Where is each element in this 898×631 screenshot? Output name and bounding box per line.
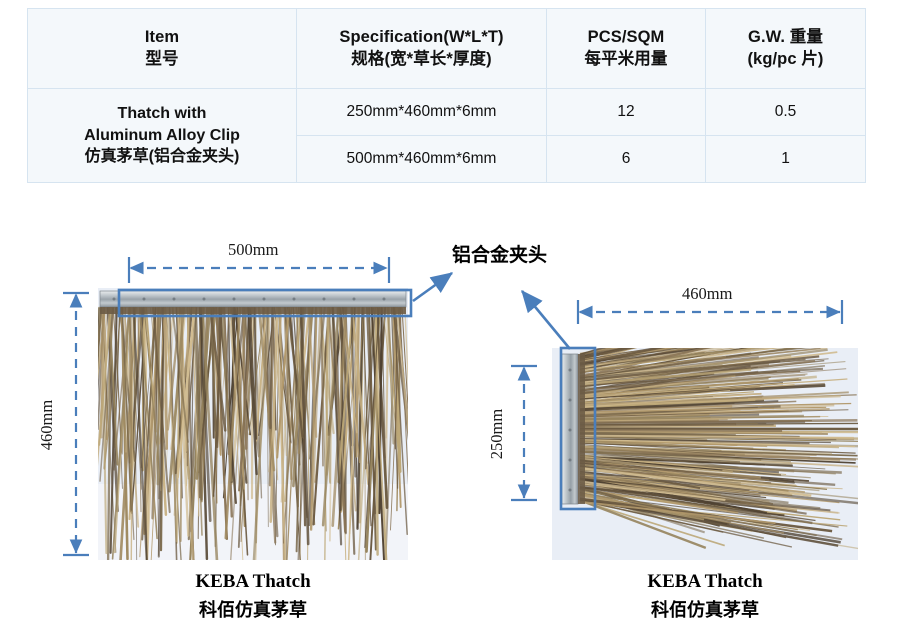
right-height-label: 250mm [487, 403, 507, 465]
cell-gross-weight: 0.5 [706, 89, 866, 136]
header-specification-cn: 规格(宽*草长*厚度) [298, 49, 545, 71]
cell-pcs-sqm: 12 [547, 89, 706, 136]
left-figure-caption: KEBA Thatch 科佰仿真茅草 [153, 568, 353, 624]
header-pcs-sqm-en: PCS/SQM [548, 27, 704, 49]
right-width-label: 460mm [682, 284, 732, 304]
item-name-line3: 仿真茅草(铝合金夹头) [29, 146, 295, 168]
header-item: Item 型号 [28, 9, 297, 89]
left-thatch-illustration [98, 288, 408, 560]
callout-arrow-left [413, 273, 452, 301]
header-item-cn: 型号 [29, 49, 295, 71]
right-caption-en: KEBA Thatch [605, 568, 805, 597]
header-gross-weight: G.W. 重量 (kg/pc 片) [706, 9, 866, 89]
cell-specification: 250mm*460mm*6mm [297, 89, 547, 136]
left-height-label: 460mm [37, 394, 57, 456]
cell-item-name: Thatch with Aluminum Alloy Clip 仿真茅草(铝合金… [28, 89, 297, 183]
header-specification: Specification(W*L*T) 规格(宽*草长*厚度) [297, 9, 547, 89]
table-row: Thatch with Aluminum Alloy Clip 仿真茅草(铝合金… [28, 89, 866, 136]
header-gross-weight-cn: (kg/pc 片) [707, 49, 864, 71]
right-product-photo [552, 348, 858, 560]
header-gross-weight-en: G.W. 重量 [707, 27, 864, 49]
header-pcs-sqm: PCS/SQM 每平米用量 [547, 9, 706, 89]
right-caption-cn: 科佰仿真茅草 [605, 597, 805, 624]
header-item-en: Item [29, 27, 295, 49]
callout-arrow-right [522, 291, 570, 349]
cell-gross-weight: 1 [706, 136, 866, 183]
right-height-dimension [511, 366, 537, 500]
left-width-dimension [129, 257, 389, 283]
left-product-photo [98, 288, 408, 560]
aluminum-clip-callout-label: 铝合金夹头 [452, 240, 547, 267]
cell-specification: 500mm*460mm*6mm [297, 136, 547, 183]
item-name-line1: Thatch with [29, 103, 295, 125]
table-header-row: Item 型号 Specification(W*L*T) 规格(宽*草长*厚度)… [28, 9, 866, 89]
header-specification-en: Specification(W*L*T) [298, 27, 545, 49]
product-spec-sheet: Item 型号 Specification(W*L*T) 规格(宽*草长*厚度)… [0, 0, 898, 631]
left-width-label: 500mm [228, 240, 278, 260]
cell-pcs-sqm: 6 [547, 136, 706, 183]
right-figure-caption: KEBA Thatch 科佰仿真茅草 [605, 568, 805, 624]
right-thatch-illustration [552, 348, 858, 560]
header-pcs-sqm-cn: 每平米用量 [548, 49, 704, 71]
left-height-dimension [63, 293, 89, 555]
left-caption-en: KEBA Thatch [153, 568, 353, 597]
item-name-line2: Aluminum Alloy Clip [29, 125, 295, 147]
left-caption-cn: 科佰仿真茅草 [153, 597, 353, 624]
specification-table: Item 型号 Specification(W*L*T) 规格(宽*草长*厚度)… [27, 8, 866, 183]
